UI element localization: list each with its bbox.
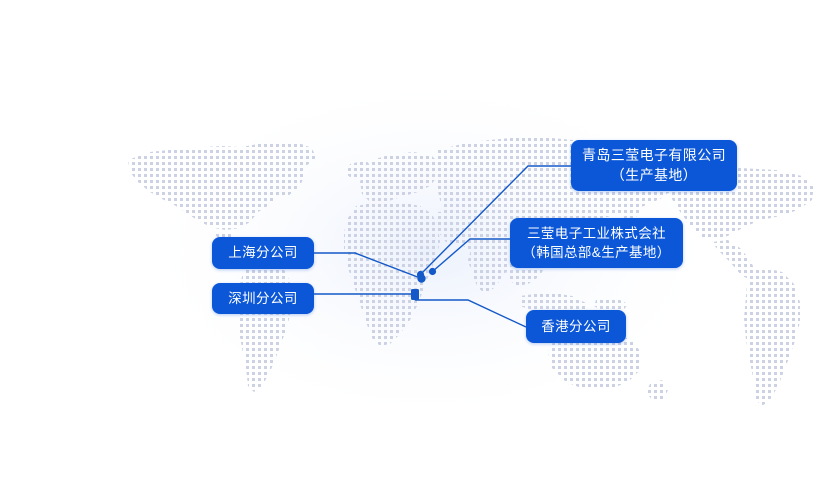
label-qingdao-line-1: 青岛三莹电子有限公司 bbox=[582, 146, 726, 166]
label-korea-line-2: （韩国总部&生产基地） bbox=[522, 243, 670, 262]
label-korea-line-1: 三莹电子工业株式会社 bbox=[527, 224, 666, 243]
label-shanghai[interactable]: 上海分公司 bbox=[212, 237, 314, 269]
label-hongkong-line-1: 香港分公司 bbox=[541, 317, 611, 336]
world-map-dots bbox=[0, 0, 824, 480]
world-map bbox=[0, 0, 824, 480]
label-shenzhen[interactable]: 深圳分公司 bbox=[212, 283, 314, 314]
map-infographic: 青岛三莹电子有限公司 （生产基地） 三莹电子工业株式会社 （韩国总部&生产基地）… bbox=[0, 0, 824, 480]
label-qingdao[interactable]: 青岛三莹电子有限公司 （生产基地） bbox=[571, 140, 737, 191]
label-korea-hq[interactable]: 三莹电子工业株式会社 （韩国总部&生产基地） bbox=[510, 218, 683, 268]
label-qingdao-line-2: （生产基地） bbox=[611, 166, 697, 186]
label-shenzhen-line-1: 深圳分公司 bbox=[228, 289, 298, 308]
label-shanghai-line-1: 上海分公司 bbox=[228, 243, 298, 262]
label-hongkong[interactable]: 香港分公司 bbox=[526, 310, 626, 343]
